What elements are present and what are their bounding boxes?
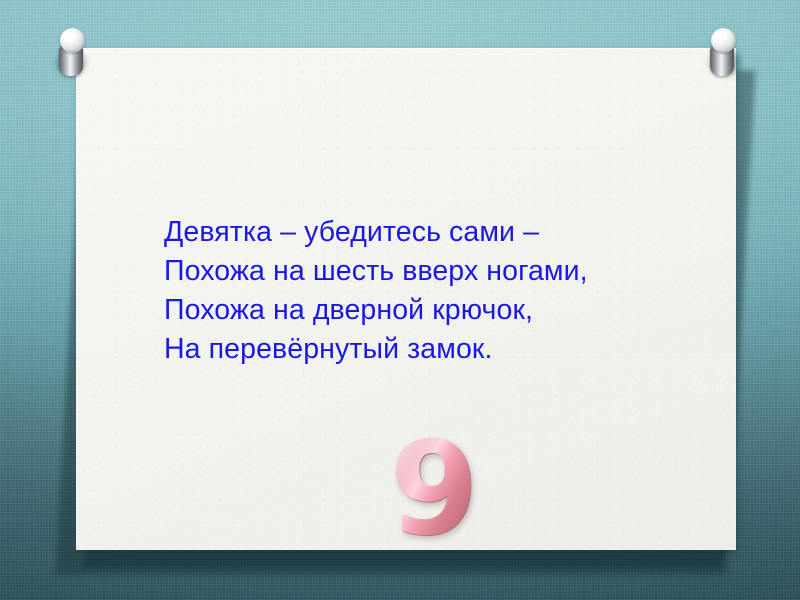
push-pin-left-head	[60, 28, 85, 53]
push-pin-right	[704, 28, 750, 84]
slide-canvas: Девятка – убедитесь сами – Похожа на шес…	[0, 0, 800, 600]
push-pin-left	[50, 28, 96, 84]
digit-nine-glyph: 9	[386, 424, 482, 556]
poem-line-4: На перевёрнутый замок.	[164, 330, 764, 369]
poem-line-2: Похожа на шесть вверх ногами,	[164, 252, 764, 291]
paper-sheet: Девятка – убедитесь сами – Похожа на шес…	[76, 48, 736, 550]
poem-line-3: Похожа на дверной крючок,	[164, 291, 764, 330]
digit-nine-illustration: 9 9	[386, 424, 482, 556]
push-pin-right-head	[711, 28, 736, 53]
poem-line-1: Девятка – убедитесь сами –	[164, 213, 764, 252]
poem-text-block: Девятка – убедитесь сами – Похожа на шес…	[164, 213, 764, 369]
